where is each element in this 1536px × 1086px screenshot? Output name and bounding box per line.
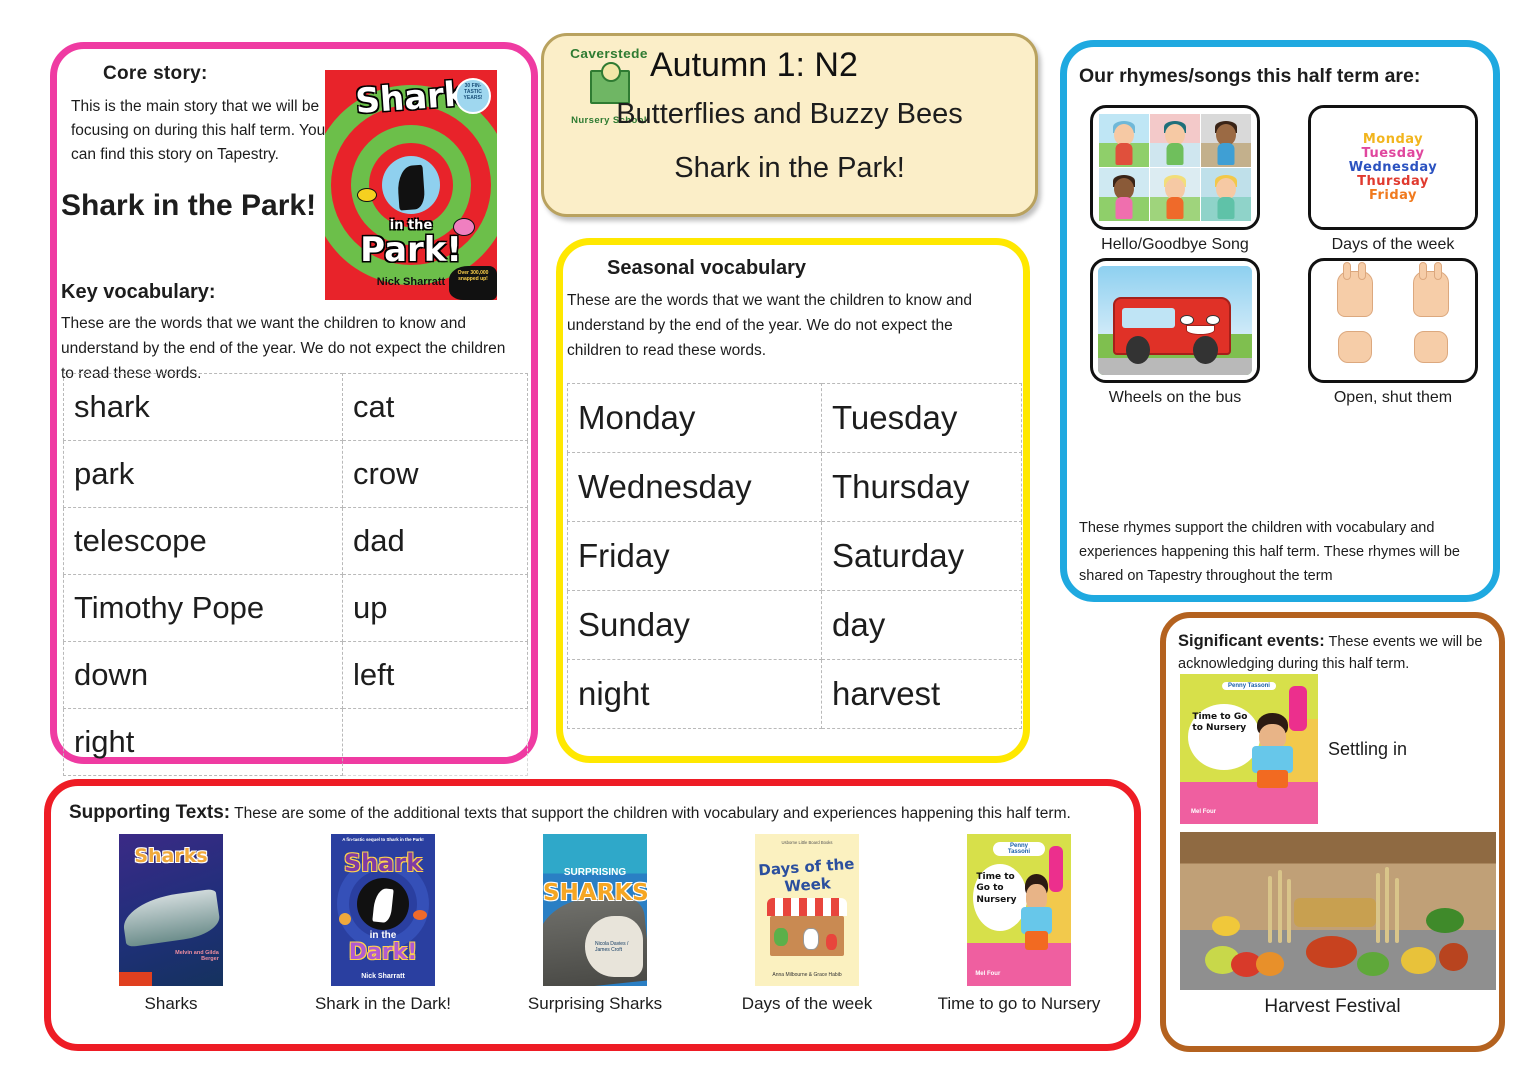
letter-line: Monday [1363,133,1423,146]
surprising-sharks-book-cover: SURPRISING SHARKS Nicola Davies / James … [543,834,647,986]
book-caption: Sharks [65,994,277,1014]
key-vocabulary-table: shark cat park crow telescope dad Timoth… [63,373,528,776]
cover-title: Days of the Week [755,855,859,898]
kids-grid-icon [1090,105,1260,230]
logo-top-text: Caverstede [562,46,657,61]
table-row: down left [64,642,528,709]
cover-illustrator: Mel Four [975,971,1000,977]
core-story-heading: Core story: [103,63,208,85]
cover-author-badge: Penny Tassoni [1222,682,1276,690]
kid-tile [1150,168,1200,221]
red-bus-icon [1090,258,1260,383]
table-row: night harvest [568,660,1022,729]
cover-imprint: Usborne Little Board Books [755,840,859,845]
event-caption: Settling in [1328,739,1407,760]
hands-icon [1308,258,1478,383]
vocab-cell: down [64,642,343,709]
table-row: Monday Tuesday [568,384,1022,453]
kid-tile [1099,168,1149,221]
shark-in-the-park-book-cover: Shark in the Park! Nick Sharratt 30 FIN-… [325,70,497,300]
cover-title-bottom: Park! [325,230,497,270]
book-caption: Shark in the Dark! [277,994,489,1014]
table-row: Friday Saturday [568,522,1022,591]
sharks-book-cover: Sharks Melvin and Gilda Berger [119,834,223,986]
table-row: shark cat [64,374,528,441]
core-story-title: Shark in the Park! [61,189,351,224]
crab-icon [413,910,427,920]
cover-illustrator: Mel Four [1191,809,1216,815]
logo-child-icon [601,62,621,82]
rhymes-heading: Our rhymes/songs this half term are: [1079,65,1420,88]
cover-author: Anna Milbourne & Grace Habib [755,972,859,978]
cover-author: Nicola Davies / James Croft [595,941,643,953]
banner-class-name: Butterflies and Buzzy Bees [544,98,1035,131]
kid-tile [1150,114,1200,167]
book-item: Usborne Little Board Books Days of the W… [701,834,913,1014]
table-row: Wednesday Thursday [568,453,1022,522]
closed-fist-icon [1338,331,1372,363]
vocab-cell: up [343,575,528,642]
letter-line: Friday [1369,189,1417,202]
core-story-intro: This is the main story that we will be f… [71,95,339,167]
significant-events-label: Significant events: [1178,632,1325,650]
cover-title: Time to Go to Nursery [1192,712,1255,735]
days-of-the-week-book-cover: Usborne Little Board Books Days of the W… [755,834,859,986]
supporting-texts-description: These are some of the additional texts t… [230,805,1071,822]
vocab-cell: Monday [568,384,822,453]
book-item: A fin-tastic sequel to Shark in the Park… [277,834,489,1014]
significant-events-heading: Significant events: These events we will… [1178,630,1496,675]
vocab-cell: left [343,642,528,709]
supporting-texts-panel: Supporting Texts: These are some of the … [44,779,1141,1051]
book-item: SURPRISING SHARKS Nicola Davies / James … [489,834,701,1014]
rhyme-caption: Open, shut them [1297,389,1489,407]
bee-icon [357,188,377,202]
rhymes-grid: Hello/Goodbye Song Monday Tuesday Wednes… [1079,105,1489,407]
kid-tile [1099,114,1149,167]
book-caption: Surprising Sharks [489,994,701,1014]
event-item: Penny Tassoni Time to Go to Nursery Mel … [1180,674,1498,824]
cover-title: Shark [331,849,435,877]
book-caption: Days of the week [701,994,913,1014]
cover-title2: Dark! [331,940,435,965]
rhyme-item: Hello/Goodbye Song [1079,105,1271,254]
table-row: right [64,709,528,776]
table-row: Timothy Pope up [64,575,528,642]
time-to-go-to-nursery-book-cover: Penny Tassoni Time to Go to Nursery Mel … [967,834,1071,986]
banner-term-title: Autumn 1: N2 [650,46,858,85]
vocab-cell: Saturday [822,522,1022,591]
seasonal-vocabulary-table: Monday Tuesday Wednesday Thursday Friday… [567,383,1022,729]
vocab-cell: telescope [64,508,343,575]
vocab-cell: Timothy Pope [64,575,343,642]
snapped-up-badge: Over 300,000 snapped up! [449,266,497,300]
fin-tastic-badge: 30 FIN-TASTIC YEARS! [455,78,491,114]
rhyme-caption: Days of the week [1297,236,1489,254]
letter-line: Wednesday [1349,161,1437,174]
cover-subtitle: in the [331,930,435,941]
vocab-cell: right [64,709,343,776]
letter-line: Thursday [1357,175,1429,188]
vocab-cell: Tuesday [822,384,1022,453]
vocab-cell-empty [343,709,528,776]
butterfly-icon [453,218,475,236]
table-row: telescope dad [64,508,528,575]
seasonal-vocabulary-heading: Seasonal vocabulary [607,257,806,280]
vocab-cell: harvest [822,660,1022,729]
seasonal-vocabulary-panel: Seasonal vocabulary These are the words … [556,238,1030,763]
time-to-go-to-nursery-book-cover: Penny Tassoni Time to Go to Nursery Mel … [1180,674,1318,824]
vocab-cell: Wednesday [568,453,822,522]
vocab-cell: night [568,660,822,729]
cover-title: SURPRISING [543,867,647,878]
supporting-texts-label: Supporting Texts: [69,802,230,823]
cover-author-badge: Penny Tassoni [993,842,1045,856]
cover-title2: SHARKS [543,880,647,906]
magnetic-letters-icon: Monday Tuesday Wednesday Thursday Friday [1308,105,1478,230]
rhyme-caption: Hello/Goodbye Song [1079,236,1271,254]
harvest-photo [1180,832,1496,990]
supporting-texts-heading: Supporting Texts: These are some of the … [69,802,1119,824]
book-item: Penny Tassoni Time to Go to Nursery Mel … [913,834,1125,1014]
open-hand-icon [1413,271,1449,317]
letter-line: Tuesday [1362,147,1425,160]
key-vocabulary-heading: Key vocabulary: [61,281,216,304]
rhyme-caption: Wheels on the bus [1079,389,1271,407]
open-hand-icon [1337,271,1373,317]
banner-story-title: Shark in the Park! [544,152,1035,185]
cover-author: Nick Sharratt [331,973,435,980]
vocab-cell: day [822,591,1022,660]
closed-fist-icon [1414,331,1448,363]
cover-title: Sharks [119,845,223,867]
vocab-cell: shark [64,374,343,441]
vocab-cell: park [64,441,343,508]
book-item: Sharks Melvin and Gilda Berger Sharks [65,834,277,1014]
shark-in-the-dark-book-cover: A fin-tastic sequel to Shark in the Park… [331,834,435,986]
vocab-cell: Friday [568,522,822,591]
rhymes-note: These rhymes support the children with v… [1079,517,1483,589]
cover-author: Melvin and Gilda Berger [165,950,219,962]
cover-strapline: A fin-tastic sequel to Shark in the Park… [331,837,435,842]
kid-tile [1201,114,1251,167]
rhymes-songs-panel: Our rhymes/songs this half term are: Hel… [1060,40,1500,602]
vocab-cell: dad [343,508,528,575]
table-row: park crow [64,441,528,508]
book-caption: Time to go to Nursery [913,994,1125,1014]
vocab-cell: cat [343,374,528,441]
title-banner: Caverstede Nursery School Autumn 1: N2 B… [541,33,1038,217]
significant-events-panel: Significant events: These events we will… [1160,612,1505,1052]
vocab-cell: Sunday [568,591,822,660]
kid-tile [1201,168,1251,221]
cover-title: Time to Go to Nursery [976,872,1024,906]
rhyme-item: Wheels on the bus [1079,258,1271,407]
rhyme-item: Monday Tuesday Wednesday Thursday Friday… [1297,105,1489,254]
vocab-cell: Thursday [822,453,1022,522]
seasonal-vocabulary-intro: These are the words that we want the chi… [567,289,977,363]
supporting-texts-row: Sharks Melvin and Gilda Berger Sharks A … [65,834,1125,1014]
core-story-panel: Core story: This is the main story that … [50,42,538,764]
table-row: Sunday day [568,591,1022,660]
event-caption: Harvest Festival [1166,996,1499,1018]
vocab-cell: crow [343,441,528,508]
rhyme-item: Open, shut them [1297,258,1489,407]
